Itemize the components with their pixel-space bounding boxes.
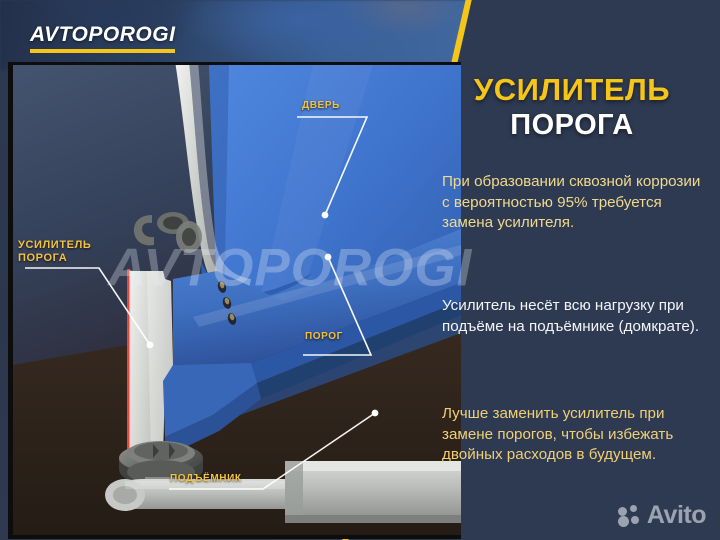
headline: УСИЛИТЕЛЬ ПОРОГА — [438, 74, 706, 142]
sill-cutaway-illustration — [13, 65, 461, 535]
paragraph-load: Усилитель несёт всю нагрузку при подъёме… — [442, 296, 712, 337]
text-column: УСИЛИТЕЛЬ ПОРОГА При образовании сквозно… — [438, 0, 720, 540]
illustration-panel — [8, 62, 461, 539]
callout-label-sill: ПОРОГ — [305, 331, 343, 343]
brand-logo: AVTOPOROGI — [30, 24, 175, 53]
headline-line-1: УСИЛИТЕЛЬ — [438, 74, 706, 107]
paragraph-corrosion: При образовании сквозной коррозии с веро… — [442, 172, 712, 234]
paragraph-advice: Лучше заменить усилитель при замене поро… — [442, 404, 712, 466]
callout-label-reinforcement: УСИЛИТЕЛЬ ПОРОГА — [18, 239, 91, 264]
callout-label-door: ДВЕРЬ — [302, 100, 340, 112]
headline-line-2: ПОРОГА — [438, 109, 706, 142]
brand-logo-text: AVTOPOROGI — [30, 24, 175, 45]
advertisement-card: AVTOPOROGI — [0, 0, 720, 540]
brand-logo-underline — [30, 49, 175, 53]
callout-label-lift: ПОДЪЁМНИК — [170, 473, 242, 485]
